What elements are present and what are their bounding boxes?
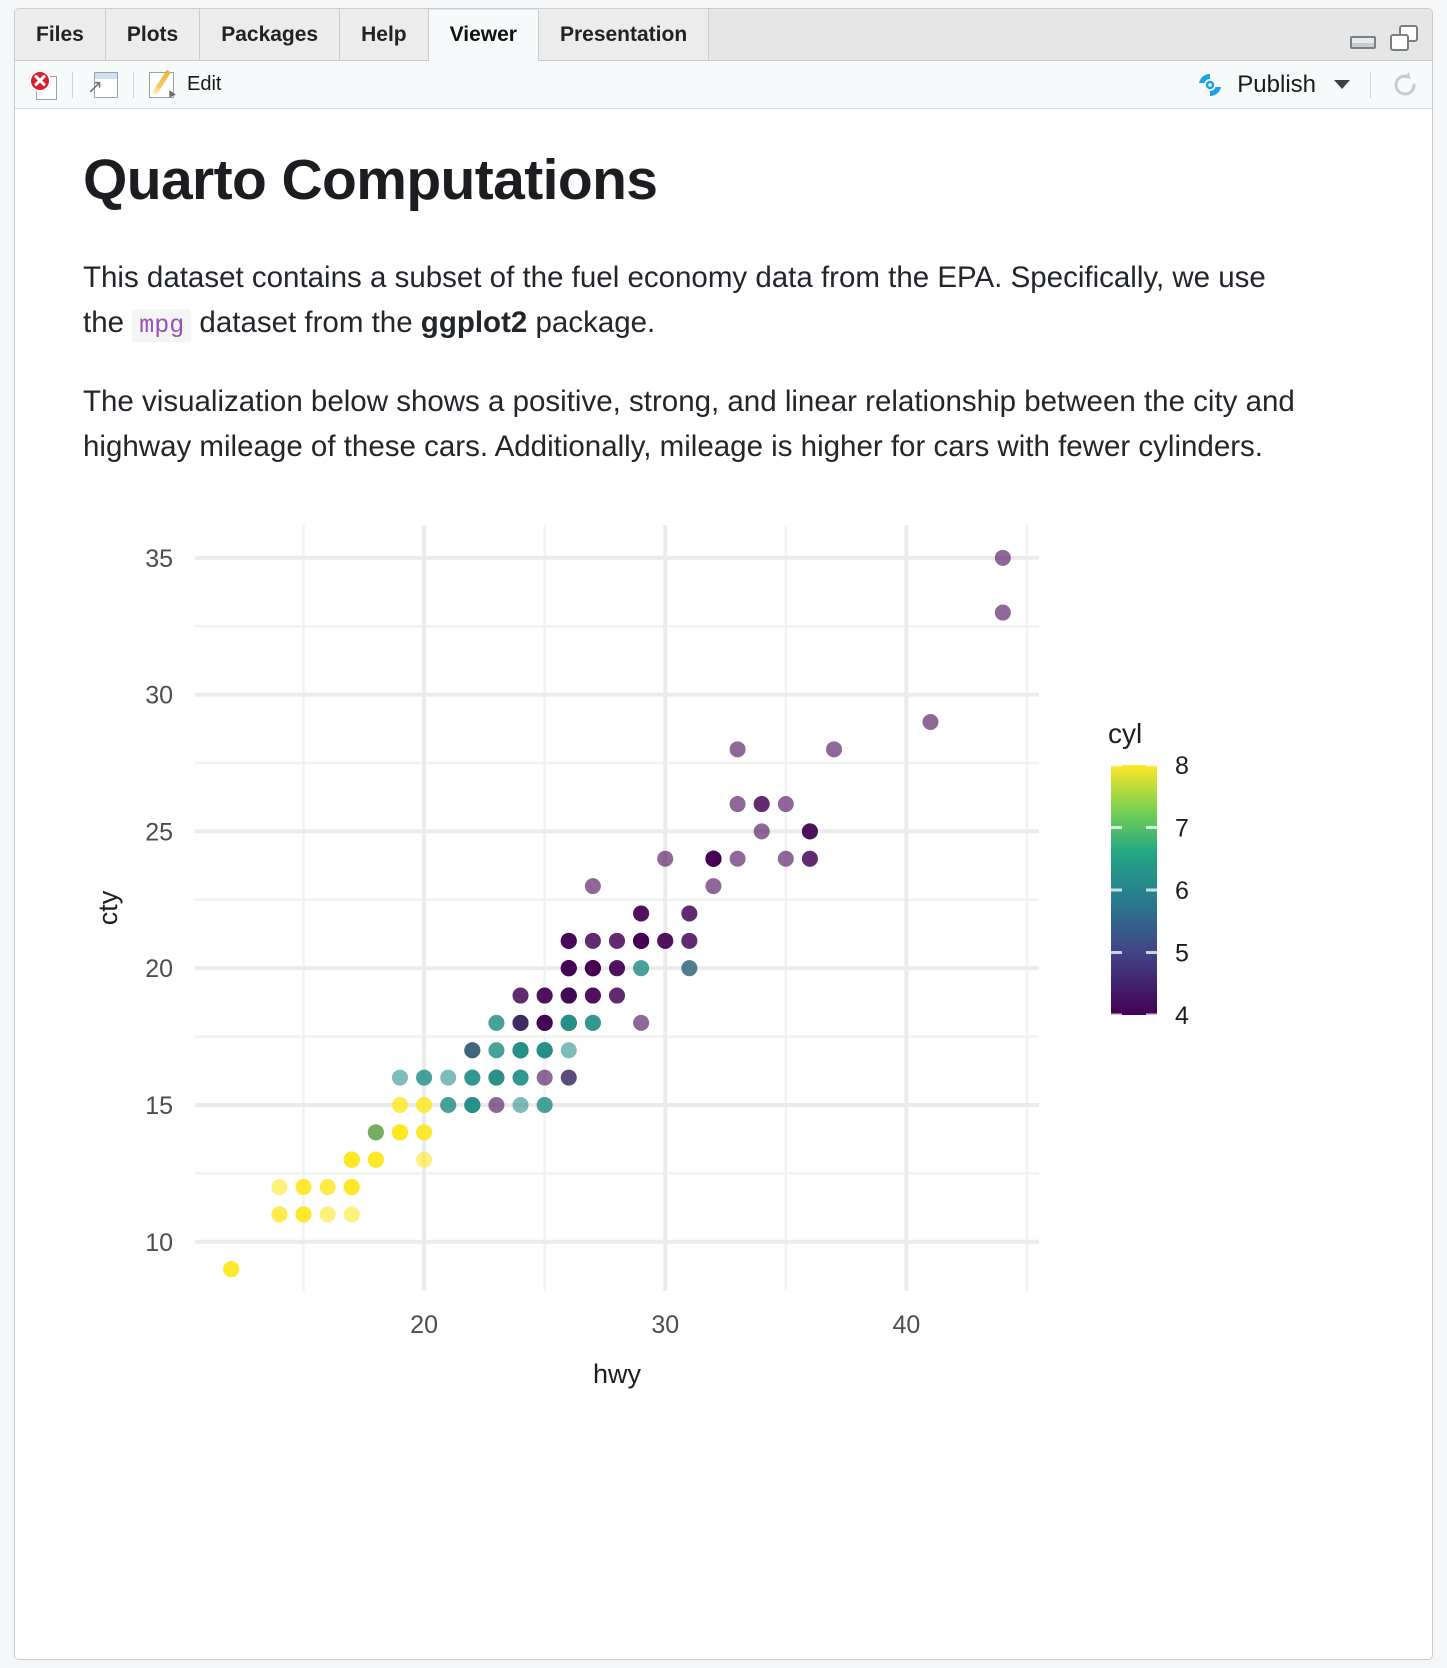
- data-point: [995, 605, 1011, 621]
- data-point: [416, 1070, 432, 1086]
- paragraph-text-3: package.: [527, 306, 655, 339]
- data-point: [344, 1207, 360, 1223]
- y-tick-label: 25: [145, 819, 173, 847]
- y-tick-label: 30: [145, 682, 173, 710]
- data-point: [513, 1043, 529, 1059]
- data-point: [392, 1070, 408, 1086]
- inline-code-mpg: mpg: [132, 309, 191, 342]
- data-point: [802, 824, 818, 840]
- data-point: [561, 988, 577, 1004]
- page-title: Quarto Computations: [83, 151, 1368, 211]
- data-point: [271, 1180, 287, 1196]
- data-point: [705, 851, 721, 867]
- data-point: [657, 851, 673, 867]
- data-point: [537, 988, 553, 1004]
- tab-help[interactable]: Help: [340, 9, 429, 60]
- data-point: [730, 797, 746, 813]
- data-point: [561, 1070, 577, 1086]
- legend-tick-label: 4: [1175, 1002, 1189, 1030]
- data-point: [464, 1043, 480, 1059]
- data-point: [633, 933, 649, 949]
- data-point: [416, 1152, 432, 1168]
- data-point: [488, 1015, 504, 1031]
- data-point: [633, 906, 649, 922]
- legend-tick-label: 8: [1175, 752, 1189, 780]
- tab-files[interactable]: Files: [15, 9, 106, 60]
- data-point: [585, 961, 601, 977]
- data-point: [392, 1097, 408, 1113]
- data-point: [730, 851, 746, 867]
- stop-clear-icon[interactable]: [29, 70, 59, 100]
- data-point: [344, 1152, 360, 1168]
- viewer-pane: Files Plots Packages Help Viewer Present…: [14, 8, 1433, 1660]
- data-point: [513, 1015, 529, 1031]
- tab-label: Plots: [127, 23, 178, 47]
- data-point: [464, 1070, 480, 1086]
- y-axis-title: cty: [93, 891, 123, 926]
- data-point: [754, 824, 770, 840]
- data-point: [488, 1043, 504, 1059]
- data-point: [513, 1097, 529, 1113]
- data-point: [464, 1097, 480, 1113]
- data-point: [826, 742, 842, 758]
- x-tick-label: 30: [651, 1311, 679, 1339]
- x-tick-label: 40: [892, 1311, 920, 1339]
- publish-icon: [1195, 70, 1225, 100]
- data-point: [681, 961, 697, 977]
- data-point: [537, 1043, 553, 1059]
- edit-button[interactable]: Edit: [147, 70, 221, 100]
- data-point: [561, 933, 577, 949]
- data-point: [705, 879, 721, 895]
- data-point: [633, 961, 649, 977]
- tab-label: Files: [36, 23, 84, 47]
- x-axis-tick-labels: 203040: [410, 1311, 920, 1339]
- publish-button[interactable]: Publish: [1195, 70, 1316, 100]
- data-point: [681, 906, 697, 922]
- data-point: [271, 1207, 287, 1223]
- data-point: [537, 1015, 553, 1031]
- data-point: [440, 1070, 456, 1086]
- y-tick-label: 15: [145, 1092, 173, 1120]
- y-tick-label: 10: [145, 1229, 173, 1257]
- tab-plots[interactable]: Plots: [106, 9, 200, 60]
- data-point: [513, 1070, 529, 1086]
- grid-major: [195, 525, 1039, 1291]
- data-point: [368, 1125, 384, 1141]
- legend-title: cyl: [1108, 718, 1142, 749]
- tab-viewer[interactable]: Viewer: [429, 10, 539, 61]
- paragraph-dataset-description: This dataset contains a subset of the fu…: [83, 255, 1298, 345]
- y-tick-label: 20: [145, 956, 173, 984]
- data-point: [296, 1180, 312, 1196]
- data-point: [488, 1097, 504, 1113]
- data-point: [585, 879, 601, 895]
- legend-tick-label: 5: [1175, 940, 1189, 968]
- edit-pencil-icon: [147, 70, 179, 100]
- x-tick-label: 20: [410, 1311, 438, 1339]
- tab-label: Help: [361, 23, 407, 47]
- data-point: [922, 714, 938, 730]
- data-point: [995, 550, 1011, 566]
- plot-svg: 203040 101520253035 hwy cty: [87, 503, 1307, 1403]
- data-point: [513, 988, 529, 1004]
- data-point: [585, 988, 601, 1004]
- x-axis-title: hwy: [593, 1359, 642, 1389]
- minimize-icon[interactable]: [1348, 26, 1378, 52]
- data-point: [657, 933, 673, 949]
- window-controls: [1348, 26, 1432, 60]
- toolbar-divider: [133, 72, 134, 98]
- tab-presentation[interactable]: Presentation: [539, 9, 709, 60]
- data-point: [440, 1097, 456, 1113]
- data-points: [223, 550, 1011, 1277]
- legend-tick-label: 6: [1175, 877, 1189, 905]
- data-point: [754, 797, 770, 813]
- data-point: [778, 797, 794, 813]
- data-point: [537, 1097, 553, 1113]
- bold-ggplot2: ggplot2: [421, 306, 528, 339]
- data-point: [488, 1070, 504, 1086]
- paragraph-text-2: dataset from the: [191, 306, 421, 339]
- rendered-document: Quarto Computations This dataset contain…: [15, 109, 1432, 1659]
- viewer-toolbar: ↗ Edit Publish: [15, 61, 1432, 109]
- data-point: [416, 1125, 432, 1141]
- data-point: [392, 1125, 408, 1141]
- tab-label: Viewer: [450, 23, 517, 47]
- refresh-icon[interactable]: [1388, 68, 1422, 102]
- data-point: [561, 961, 577, 977]
- data-point: [561, 1015, 577, 1031]
- edit-label: Edit: [187, 73, 221, 96]
- data-point: [609, 933, 625, 949]
- tab-label: Packages: [221, 23, 318, 47]
- paragraph-visualization-description: The visualization below shows a positive…: [83, 379, 1298, 469]
- grid-minor: [195, 525, 1039, 1291]
- toolbar-divider: [72, 72, 73, 98]
- data-point: [681, 933, 697, 949]
- data-point: [802, 851, 818, 867]
- data-point: [609, 961, 625, 977]
- legend-tick-label: 7: [1175, 815, 1189, 843]
- data-point: [537, 1070, 553, 1086]
- data-point: [223, 1262, 239, 1278]
- y-axis-tick-labels: 101520253035: [145, 545, 173, 1257]
- data-point: [416, 1097, 432, 1113]
- color-legend: cyl 87654: [1108, 718, 1189, 1030]
- toolbar-divider: [1370, 72, 1371, 98]
- data-point: [320, 1180, 336, 1196]
- chevron-down-icon[interactable]: [1334, 80, 1350, 89]
- data-point: [320, 1207, 336, 1223]
- data-point: [778, 851, 794, 867]
- data-point: [609, 988, 625, 1004]
- tab-label: Presentation: [560, 23, 687, 47]
- toolbar-right-group: Publish: [1195, 68, 1422, 102]
- data-point: [585, 933, 601, 949]
- data-point: [585, 1015, 601, 1031]
- publish-label: Publish: [1237, 71, 1316, 99]
- scatter-plot: 203040 101520253035 hwy cty: [87, 503, 1307, 1403]
- data-point: [730, 742, 746, 758]
- popout-window-icon[interactable]: ↗: [86, 70, 120, 100]
- maximize-icon[interactable]: [1388, 26, 1418, 52]
- pane-tab-strip: Files Plots Packages Help Viewer Present…: [15, 9, 1432, 61]
- tab-packages[interactable]: Packages: [200, 9, 340, 60]
- data-point: [561, 1043, 577, 1059]
- data-point: [368, 1152, 384, 1168]
- data-point: [344, 1180, 360, 1196]
- y-tick-label: 35: [145, 545, 173, 573]
- data-point: [296, 1207, 312, 1223]
- data-point: [633, 1015, 649, 1031]
